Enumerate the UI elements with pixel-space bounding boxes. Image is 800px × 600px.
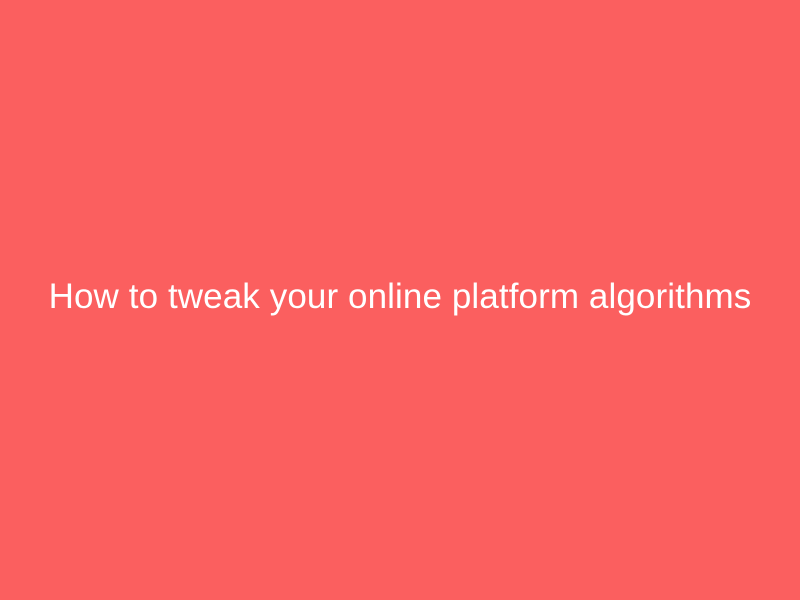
title-card: How to tweak your online platform algori…	[0, 0, 800, 600]
page-title: How to tweak your online platform algori…	[49, 276, 752, 319]
headline-container: How to tweak your online platform algori…	[0, 276, 800, 319]
